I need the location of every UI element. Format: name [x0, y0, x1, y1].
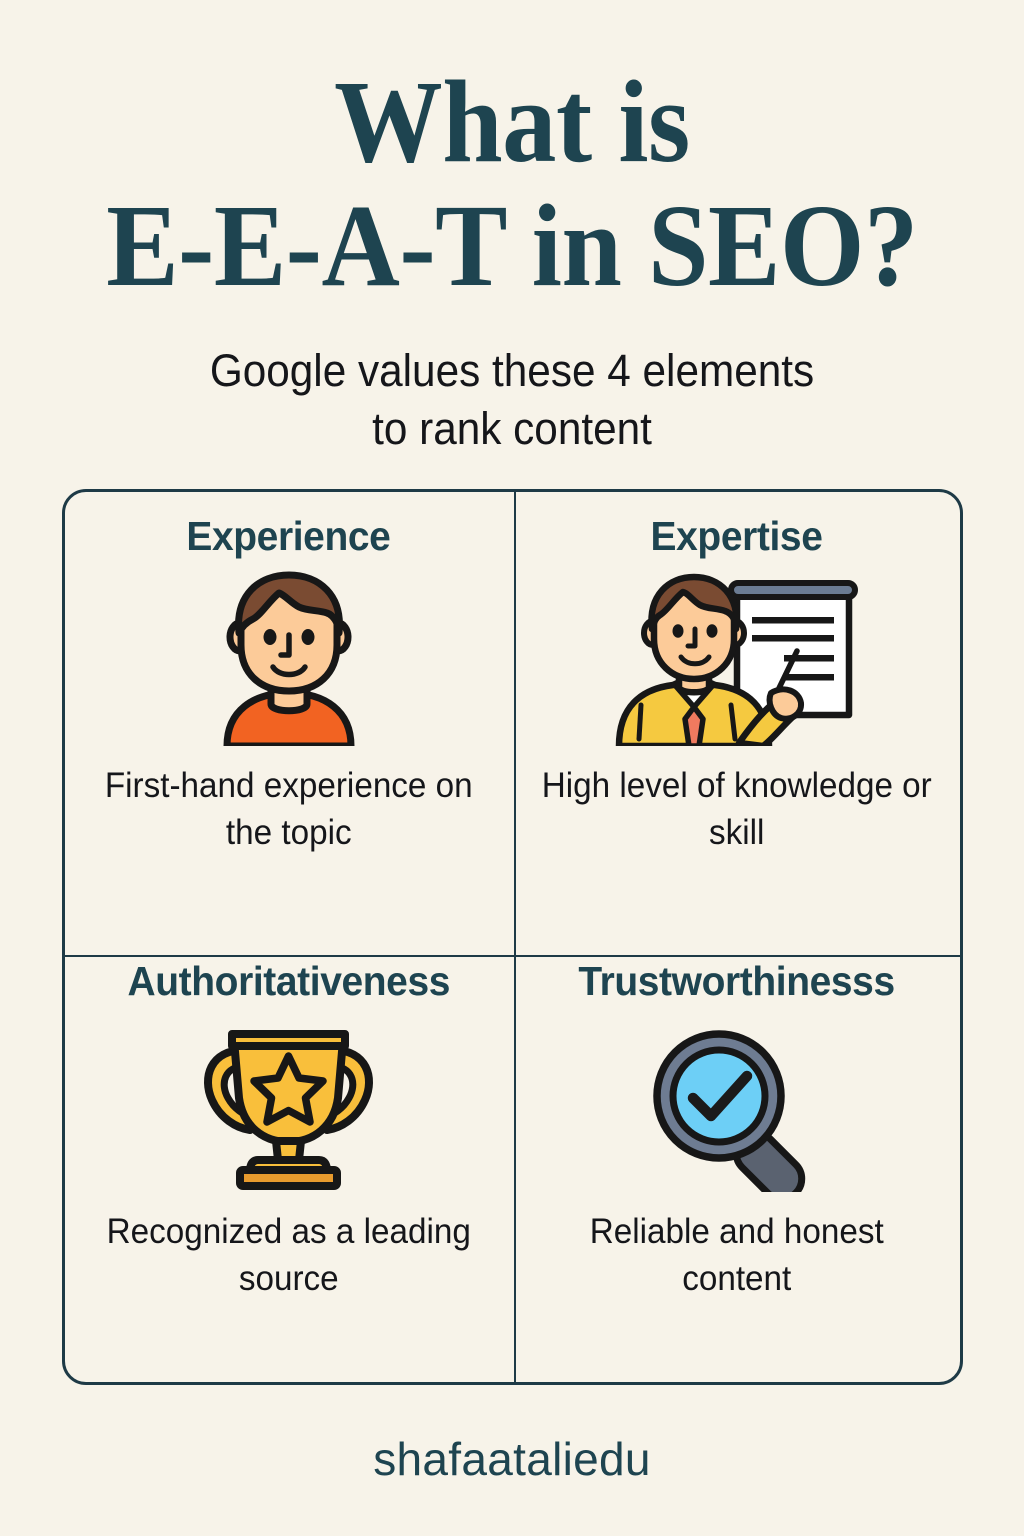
grid-cell-expertise: Expertise: [513, 492, 961, 937]
footer-handle: shafaataliedu: [0, 1432, 1024, 1486]
cell-title-expertise: Expertise: [650, 514, 822, 559]
cell-title-trustworthiness: Trustworthinesss: [578, 959, 894, 1004]
title-line-1: What is: [41, 62, 983, 182]
grid-cell-trustworthiness: Trustworthinesss Reliable and honest con…: [513, 937, 961, 1382]
subtitle-line-1: Google values these 4 elements: [31, 342, 994, 400]
title-line-2: E-E-A-T in SEO?: [41, 186, 983, 306]
cell-description-authoritativeness: Recognized as a leading source: [93, 1208, 484, 1302]
trophy-icon: [196, 1024, 381, 1192]
grid-cell-authoritativeness: Authoritativeness: [65, 937, 513, 1382]
grid-cell-experience: Experience: [65, 492, 513, 937]
cell-description-expertise: High level of knowledge or skill: [541, 762, 932, 856]
subtitle-line-2: to rank content: [31, 400, 994, 458]
magnifier-check-icon: [641, 1024, 831, 1192]
cell-title-authoritativeness: Authoritativeness: [127, 959, 450, 1004]
cell-description-experience: First-hand experience on the topic: [93, 762, 484, 856]
eeat-grid: Experience: [62, 489, 963, 1385]
page-subtitle: Google values these 4 elements to rank c…: [31, 342, 994, 458]
cell-description-trustworthiness: Reliable and honest content: [541, 1208, 932, 1302]
page-title: What is E-E-A-T in SEO?: [0, 62, 1024, 307]
infographic-page: What is E-E-A-T in SEO? Google values th…: [0, 0, 1024, 1536]
cell-title-experience: Experience: [187, 514, 391, 559]
presenter-whiteboard-icon: [611, 571, 861, 746]
person-avatar-icon: [209, 571, 369, 746]
